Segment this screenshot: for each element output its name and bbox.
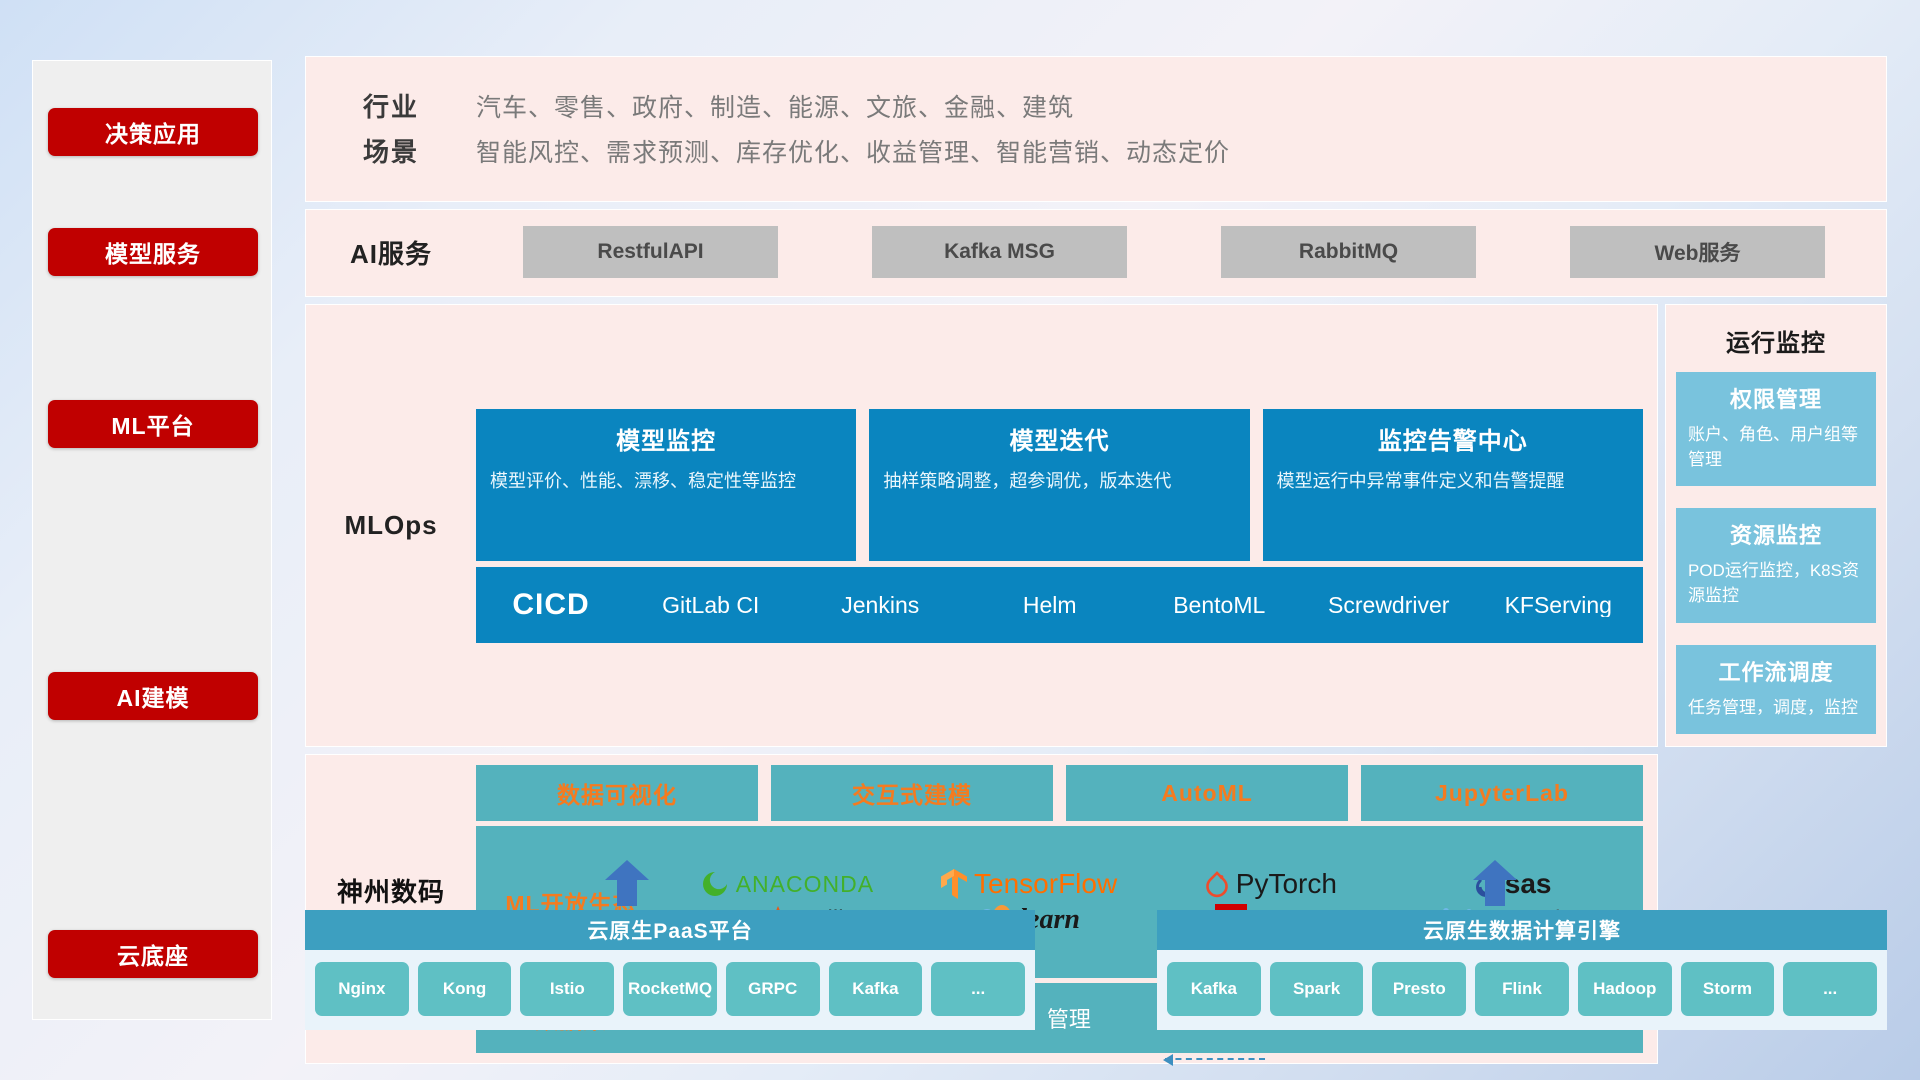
mlops-card-title: 模型监控 <box>490 421 842 456</box>
applications-band: 行业 汽车、零售、政府、制造、能源、文旅、金融、建筑 场景 智能风控、需求预测、… <box>305 56 1887 202</box>
cloud-chip-more[interactable]: ... <box>931 962 1025 1016</box>
monitor-card-permission[interactable]: 权限管理 账户、角色、用户组等管理 <box>1676 372 1876 486</box>
cloud-chip-more-compute[interactable]: ... <box>1783 962 1877 1016</box>
mllab-tool-row: 数据可视化 交互式建模 AutoML JupyterLab <box>476 765 1643 821</box>
stage-chip-decision-app[interactable]: 决策应用 <box>48 108 258 156</box>
ai-service-chip-restfulapi[interactable]: RestfulAPI <box>523 226 778 278</box>
scenario-values: 智能风控、需求预测、库存优化、收益管理、智能营销、动态定价 <box>476 133 1230 169</box>
cloud-chip-hadoop[interactable]: Hadoop <box>1578 962 1672 1016</box>
scenario-row: 场景 智能风控、需求预测、库存优化、收益管理、智能营销、动态定价 <box>306 132 1886 169</box>
cloud-compute-title: 云原生数据计算引擎 <box>1157 910 1887 950</box>
tool-chip-automl[interactable]: AutoML <box>1066 765 1348 821</box>
ai-service-cell: Web服务 <box>1523 226 1872 278</box>
cloud-compute-items: Kafka Spark Presto Flink Hadoop Storm ..… <box>1157 950 1887 1030</box>
ai-service-chip-kafka-msg[interactable]: Kafka MSG <box>872 226 1127 278</box>
arrow-left-icon <box>1165 1058 1265 1060</box>
ai-service-chip-rabbitmq[interactable]: RabbitMQ <box>1221 226 1476 278</box>
monitor-card-title: 工作流调度 <box>1688 655 1864 687</box>
ai-service-list: RestfulAPI Kafka MSG RabbitMQ Web服务 <box>476 226 1886 278</box>
mlops-row: MLOps 模型监控 模型评价、性能、漂移、稳定性等监控 模型迭代 抽样策略调整… <box>305 304 1887 747</box>
cloud-chip-nginx[interactable]: Nginx <box>315 962 409 1016</box>
arrow-up-paas-icon <box>605 860 649 906</box>
mlops-card-desc: 模型评价、性能、漂移、稳定性等监控 <box>490 468 842 494</box>
cicd-item-gitlab-ci[interactable]: GitLab CI <box>626 593 796 617</box>
tool-chip-interactive-modeling[interactable]: 交互式建模 <box>771 765 1053 821</box>
monitor-card-title: 权限管理 <box>1688 382 1864 414</box>
cloud-chip-presto[interactable]: Presto <box>1372 962 1466 1016</box>
cloud-chip-storm[interactable]: Storm <box>1681 962 1775 1016</box>
cicd-item-kfserving[interactable]: KFServing <box>1474 593 1644 617</box>
runtime-monitor-column: 运行监控 权限管理 账户、角色、用户组等管理 资源监控 POD运行监控，K8S资… <box>1665 304 1887 747</box>
cloud-chip-spark[interactable]: Spark <box>1270 962 1364 1016</box>
ai-service-cell: RestfulAPI <box>476 226 825 278</box>
mlops-card-title: 模型迭代 <box>883 421 1235 456</box>
cloud-paas-title: 云原生PaaS平台 <box>305 910 1035 950</box>
monitor-card-desc: 任务管理，调度，监控 <box>1688 696 1864 721</box>
tool-chip-jupyterlab[interactable]: JupyterLab <box>1361 765 1643 821</box>
monitor-card-workflow[interactable]: 工作流调度 任务管理，调度，监控 <box>1676 645 1876 735</box>
mlops-band: MLOps 模型监控 模型评价、性能、漂移、稳定性等监控 模型迭代 抽样策略调整… <box>305 304 1658 747</box>
stage-chip-model-service[interactable]: 模型服务 <box>48 228 258 276</box>
tool-chip-data-visualization[interactable]: 数据可视化 <box>476 765 758 821</box>
industry-values: 汽车、零售、政府、制造、能源、文旅、金融、建筑 <box>476 88 1074 124</box>
cloud-chip-istio[interactable]: Istio <box>520 962 614 1016</box>
monitor-card-title: 资源监控 <box>1688 518 1864 550</box>
mlops-content: 模型监控 模型评价、性能、漂移、稳定性等监控 模型迭代 抽样策略调整，超参调优，… <box>476 409 1643 643</box>
cicd-bar: CICD GitLab CI Jenkins Helm BentoML Scre… <box>476 567 1643 643</box>
stage-chip-ml-platform[interactable]: ML平台 <box>48 400 258 448</box>
cicd-title: CICD <box>476 588 626 622</box>
cloud-compute-block: 云原生数据计算引擎 Kafka Spark Presto Flink Hadoo… <box>1157 910 1887 1030</box>
architecture-diagram: 决策应用 模型服务 ML平台 AI建模 云底座 行业 汽车、零售、政府、制造、能… <box>0 0 1920 1080</box>
scenario-label: 场景 <box>306 132 476 169</box>
cicd-item-helm[interactable]: Helm <box>965 593 1135 617</box>
mlops-card-list: 模型监控 模型评价、性能、漂移、稳定性等监控 模型迭代 抽样策略调整，超参调优，… <box>476 409 1643 561</box>
mlops-card-desc: 模型运行中异常事件定义和告警提醒 <box>1277 468 1629 494</box>
mlops-card-model-iteration[interactable]: 模型迭代 抽样策略调整，超参调优，版本迭代 <box>869 409 1249 561</box>
mlops-card-desc: 抽样策略调整，超参调优，版本迭代 <box>883 468 1235 494</box>
ai-service-band: AI服务 RestfulAPI Kafka MSG RabbitMQ Web服务 <box>305 209 1887 297</box>
stage-chip-ai-modeling[interactable]: AI建模 <box>48 672 258 720</box>
ai-service-cell: RabbitMQ <box>1174 226 1523 278</box>
mlops-card-alert-center[interactable]: 监控告警中心 模型运行中异常事件定义和告警提醒 <box>1263 409 1643 561</box>
cloud-chip-kafka[interactable]: Kafka <box>829 962 923 1016</box>
arrow-up-compute-icon <box>1473 860 1517 906</box>
cloud-paas-items: Nginx Kong Istio RocketMQ GRPC Kafka ... <box>305 950 1035 1030</box>
ai-service-label: AI服务 <box>306 234 476 271</box>
stage-chip-cloud-base[interactable]: 云底座 <box>48 930 258 978</box>
cicd-item-bentoml[interactable]: BentoML <box>1135 593 1305 617</box>
monitor-card-resource[interactable]: 资源监控 POD运行监控，K8S资源监控 <box>1676 508 1876 622</box>
industry-label: 行业 <box>306 87 476 124</box>
mlops-label: MLOps <box>306 510 476 541</box>
cicd-item-jenkins[interactable]: Jenkins <box>796 593 966 617</box>
cloud-base-section: 云原生PaaS平台 Nginx Kong Istio RocketMQ GRPC… <box>305 860 1887 1065</box>
cloud-chip-rocketmq[interactable]: RocketMQ <box>623 962 717 1016</box>
monitor-card-desc: 账户、角色、用户组等管理 <box>1688 423 1864 472</box>
cloud-paas-block: 云原生PaaS平台 Nginx Kong Istio RocketMQ GRPC… <box>305 910 1035 1030</box>
ai-service-chip-web-service[interactable]: Web服务 <box>1570 226 1825 278</box>
cloud-chip-flink[interactable]: Flink <box>1475 962 1569 1016</box>
cloud-chip-grpc[interactable]: GRPC <box>726 962 820 1016</box>
cloud-chip-kong[interactable]: Kong <box>418 962 512 1016</box>
ai-service-cell: Kafka MSG <box>825 226 1174 278</box>
stage-rail <box>32 60 272 1020</box>
runtime-monitor-title: 运行监控 <box>1676 323 1876 358</box>
cloud-chip-kafka-compute[interactable]: Kafka <box>1167 962 1261 1016</box>
monitor-card-desc: POD运行监控，K8S资源监控 <box>1688 559 1864 608</box>
mlops-card-model-monitoring[interactable]: 模型监控 模型评价、性能、漂移、稳定性等监控 <box>476 409 856 561</box>
mlops-card-title: 监控告警中心 <box>1277 421 1629 456</box>
industry-row: 行业 汽车、零售、政府、制造、能源、文旅、金融、建筑 <box>306 87 1886 124</box>
cicd-item-screwdriver[interactable]: Screwdriver <box>1304 593 1474 617</box>
